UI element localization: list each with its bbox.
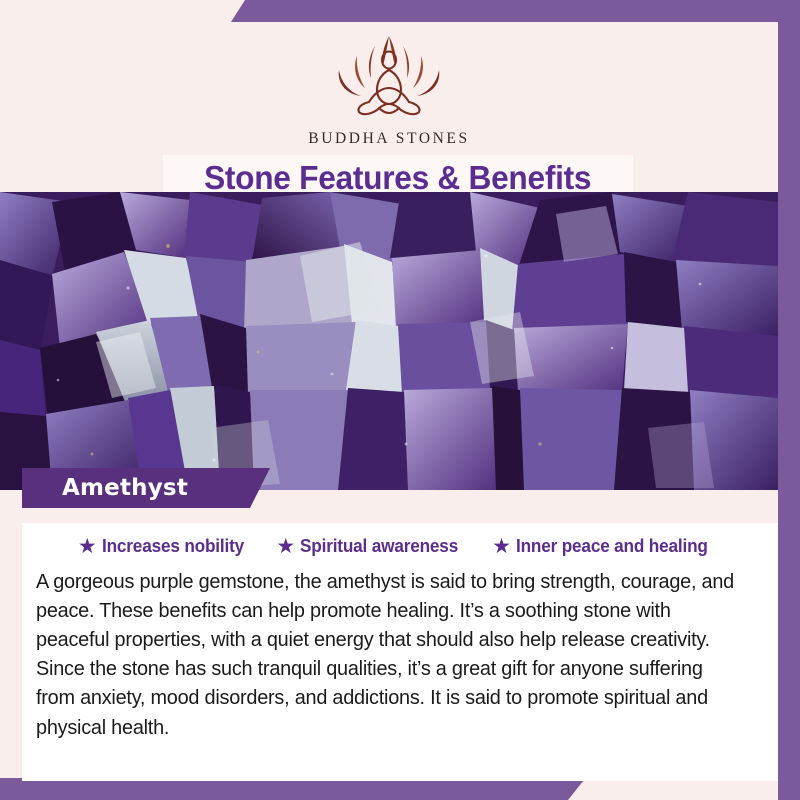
- amethyst-crystal-cluster-illustration: [0, 192, 778, 490]
- frame-band-right: [778, 0, 800, 800]
- star-icon: ★: [492, 536, 511, 557]
- feature-list: ★ Increases nobility ★ Spiritual awarene…: [22, 523, 778, 557]
- stone-name-banner: Amethyst: [22, 468, 270, 508]
- feature-item: ★ Increases nobility: [78, 535, 255, 557]
- feature-label: Inner peace and healing: [516, 535, 708, 557]
- product-infographic: BUDDHA STONES Stone Features & Benefits: [0, 0, 800, 800]
- stone-description: A gorgeous purple gemstone, the amethyst…: [36, 567, 742, 742]
- brand-header: BUDDHA STONES Stone Features & Benefits: [0, 22, 778, 192]
- star-icon: ★: [78, 536, 97, 557]
- hero-image: [0, 192, 778, 490]
- feature-item: ★ Spiritual awareness: [276, 535, 470, 557]
- stone-name: Amethyst: [62, 475, 188, 501]
- page-surface: BUDDHA STONES Stone Features & Benefits: [0, 22, 778, 778]
- star-icon: ★: [276, 536, 295, 557]
- feature-label: Spiritual awareness: [300, 535, 458, 557]
- content-card: ★ Increases nobility ★ Spiritual awarene…: [22, 523, 778, 781]
- brand-logo: BUDDHA STONES: [0, 30, 778, 148]
- lotus-meditation-icon: [313, 30, 465, 126]
- brand-name: BUDDHA STONES: [308, 130, 469, 148]
- feature-item: ★ Inner peace and healing: [492, 535, 722, 557]
- feature-label: Increases nobility: [102, 535, 244, 557]
